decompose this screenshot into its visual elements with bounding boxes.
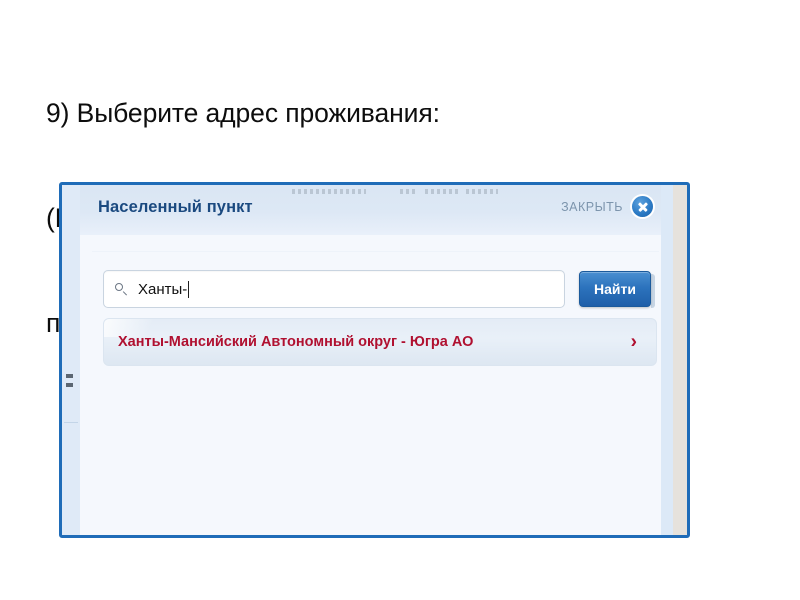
list-item[interactable]: Ханты-Мансийский Автономный округ - Югра… — [103, 318, 657, 366]
search-button-shadow — [651, 274, 655, 308]
search-icon — [115, 283, 127, 295]
chevron-right-icon[interactable]: › — [631, 333, 637, 352]
search-row: Ханты- Найти — [103, 270, 657, 308]
left-scroll-strip[interactable] — [62, 185, 80, 535]
background-artifact-3 — [425, 189, 458, 194]
strip-divider — [64, 422, 78, 423]
locality-dialog: Населенный пункт ЗАКРЫТЬ Ханты- Найти — [59, 182, 690, 538]
close-button[interactable]: ЗАКРЫТЬ — [561, 196, 653, 217]
background-artifact-1 — [292, 189, 366, 194]
content-panel: Ханты- Найти Ханты-Мансийский Автономный… — [92, 251, 659, 529]
right-scrollbar-track[interactable] — [661, 185, 673, 535]
background-artifact-2 — [400, 189, 416, 194]
strip-artifact-1 — [66, 374, 73, 378]
search-input[interactable]: Ханты- — [103, 270, 565, 308]
search-input-value: Ханты- — [138, 281, 187, 298]
strip-artifact-2 — [66, 383, 73, 387]
close-button-label: ЗАКРЫТЬ — [561, 200, 623, 214]
dialog-title: Населенный пункт — [98, 198, 253, 217]
search-results-list: Ханты-Мансийский Автономный округ - Югра… — [103, 318, 657, 366]
result-label: Ханты-Мансийский Автономный округ - Югра… — [118, 334, 473, 350]
search-button[interactable]: Найти — [579, 271, 651, 307]
background-artifact-4 — [466, 189, 498, 194]
text-caret — [188, 281, 190, 298]
page-edge-strip — [673, 185, 687, 535]
dialog-body: Ханты- Найти Ханты-Мансийский Автономный… — [80, 235, 661, 535]
dialog-header: Населенный пункт ЗАКРЫТЬ — [80, 185, 661, 235]
instruction-line-1: 9) Выберите адрес проживания: — [46, 96, 766, 131]
close-circle-icon[interactable] — [632, 196, 653, 217]
